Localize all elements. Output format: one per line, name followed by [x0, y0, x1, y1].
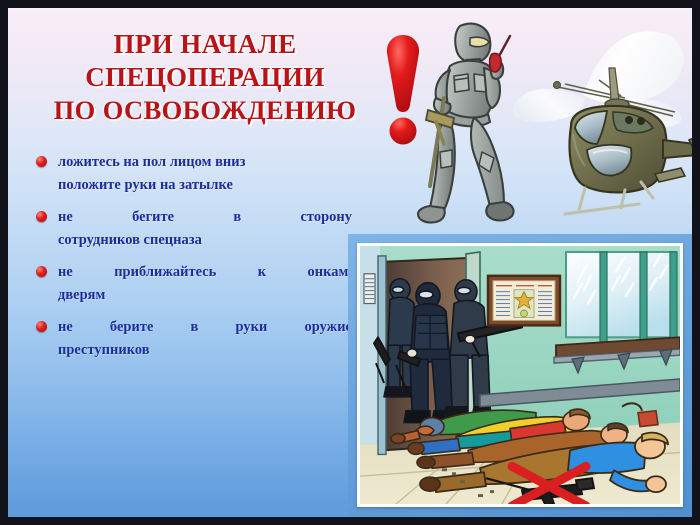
bullet-dot-icon: [36, 266, 47, 277]
list-item: не приближайтесь к онкам, дверям: [32, 261, 352, 307]
list-item: не берите в руки оружие преступников: [32, 316, 352, 362]
list-item-line: положите руки на затылке: [58, 174, 352, 197]
bullet-dot-icon: [36, 321, 47, 332]
list-item-line: дверям: [58, 284, 352, 307]
photo-frame: [348, 234, 692, 517]
list-item: ложитесь на пол лицом вниз положите руки…: [32, 151, 352, 197]
helicopter-illustration: [513, 22, 692, 222]
title-line-1: ПРИ НАЧАЛЕ: [30, 28, 380, 61]
list-item: не бегите в сторону сотрудников спецназа: [32, 206, 352, 252]
bullet-dot-icon: [36, 156, 47, 167]
title-line-2: СПЕЦОПЕРАЦИИ: [30, 61, 380, 94]
swat-room-illustration: [360, 246, 680, 504]
title-line-3: ПО ОСВОБОЖДЕНИЮ: [30, 94, 380, 127]
page-title: ПРИ НАЧАЛЕ СПЕЦОПЕРАЦИИ ПО ОСВОБОЖДЕНИЮ: [30, 28, 380, 127]
list-item-line: преступников: [58, 339, 352, 362]
poster-slide: ПРИ НАЧАЛЕ СПЕЦОПЕРАЦИИ ПО ОСВОБОЖДЕНИЮ …: [8, 8, 692, 517]
photo-inner-border: [357, 243, 683, 507]
exclamation-mark-icon: [380, 33, 426, 145]
list-item-line: не берите в руки оружие: [58, 316, 352, 339]
list-item-line: не бегите в сторону: [58, 206, 352, 229]
list-item-line: сотрудников спецназа: [58, 229, 352, 252]
list-item-line: ложитесь на пол лицом вниз: [58, 151, 352, 174]
soldier-illustration: [414, 14, 524, 232]
list-item-line: не приближайтесь к онкам,: [58, 261, 352, 284]
bullet-dot-icon: [36, 211, 47, 222]
instruction-list: ложитесь на пол лицом вниз положите руки…: [32, 151, 352, 371]
